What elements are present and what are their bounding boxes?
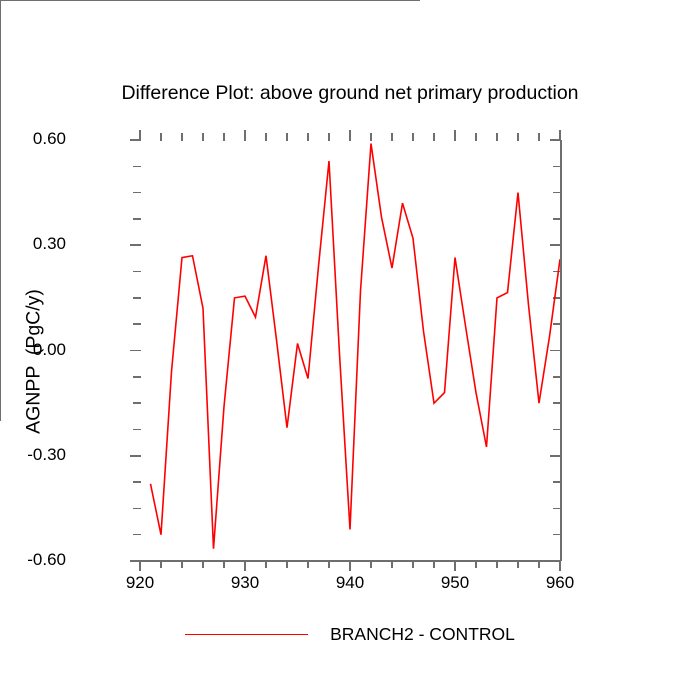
x-tick-minor (286, 560, 288, 568)
x-tick-major (244, 560, 246, 571)
y-tick-label: -0.30 (27, 445, 66, 465)
x-tick-minor (181, 560, 183, 568)
x-tick-label: 950 (420, 573, 490, 593)
x-tick-minor (496, 560, 498, 568)
data-line-svg (140, 140, 560, 561)
legend-line-swatch (185, 634, 308, 636)
x-tick-major (139, 560, 141, 571)
x-tick-minor (391, 560, 393, 568)
chart-figure: Difference Plot: above ground net primar… (0, 0, 700, 700)
x-tick-minor (328, 560, 330, 568)
x-tick-minor (517, 560, 519, 568)
x-tick-minor (160, 560, 162, 568)
x-tick-minor (475, 560, 477, 568)
y-tick-label: -0.60 (27, 550, 66, 570)
x-tick-label: 940 (315, 573, 385, 593)
x-tick-minor (265, 560, 267, 568)
x-tick-minor (370, 560, 372, 568)
y-tick-label: 0.30 (33, 234, 66, 254)
x-tick-minor (307, 560, 309, 568)
x-tick-minor (538, 560, 540, 568)
legend-label-branch2-minus-control: BRANCH2 - CONTROL (330, 624, 515, 645)
chart-legend: BRANCH2 - CONTROL (0, 624, 700, 645)
x-tick-major (454, 560, 456, 571)
y-tick-label: 0.00 (33, 340, 66, 360)
series-line-branch2-minus-control (151, 144, 561, 549)
x-tick-minor (223, 560, 225, 568)
x-tick-major (559, 560, 561, 571)
x-tick-major (349, 560, 351, 571)
y-tick-label: 0.60 (33, 129, 66, 149)
plot-area (140, 140, 560, 561)
x-tick-minor (433, 560, 435, 568)
x-tick-label: 920 (105, 573, 175, 593)
x-tick-label: 930 (210, 573, 280, 593)
x-tick-label: 960 (525, 573, 595, 593)
x-tick-minor (202, 560, 204, 568)
x-tick-minor (412, 560, 414, 568)
